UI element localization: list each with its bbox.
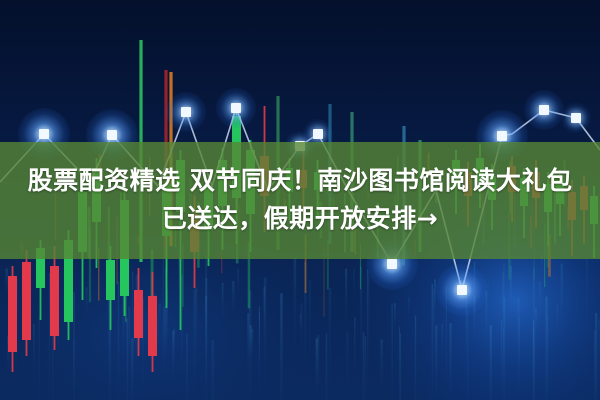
candlestick-chart-background	[0, 0, 600, 400]
promo-banner: 股票配资精选 双节同庆！南沙图书馆阅读大礼包 已送达，假期开放安排→	[0, 0, 600, 400]
